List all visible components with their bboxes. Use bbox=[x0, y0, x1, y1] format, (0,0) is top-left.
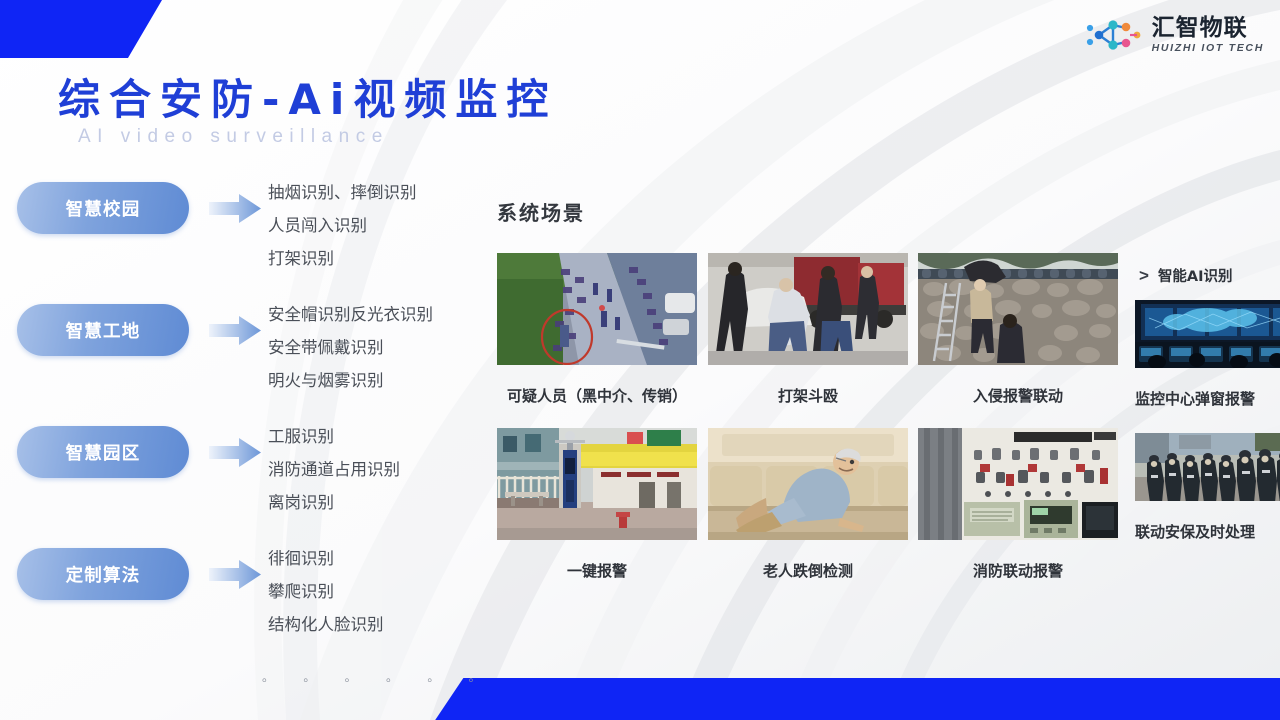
scene-image bbox=[497, 253, 697, 365]
scene-caption: 消防联动报警 bbox=[918, 560, 1118, 581]
scene-caption: 入侵报警联动 bbox=[918, 385, 1118, 406]
ellipsis-dots: 。 。 。 。 。 。 bbox=[262, 668, 494, 685]
arrow-right-icon bbox=[209, 315, 261, 346]
category-pill-smart-park[interactable]: 智慧园区 bbox=[17, 426, 189, 478]
category-pill-smart-campus[interactable]: 智慧校园 bbox=[17, 182, 189, 234]
category-item: 安全带佩戴识别 bbox=[268, 331, 433, 364]
scene-caption: 一键报警 bbox=[497, 560, 697, 581]
page-subtitle: AI video surveillance bbox=[78, 126, 389, 148]
category-pill-custom-algorithm[interactable]: 定制算法 bbox=[17, 548, 189, 600]
scene-thumb-suspicious-person[interactable]: 可疑人员（黑中介、传销） bbox=[497, 253, 697, 365]
scene-thumb-control-center-popup-alarm[interactable]: 监控中心弹窗报警 bbox=[1135, 300, 1280, 368]
category-row: 定制算法 徘徊识别 攀爬识别 结构化人脸识别 bbox=[0, 548, 470, 670]
category-item: 人员闯入识别 bbox=[268, 209, 417, 242]
scene-thumb-fire-linkage-alarm[interactable]: 消防联动报警 bbox=[918, 428, 1118, 540]
category-pill-label: 智慧工地 bbox=[66, 318, 141, 343]
scene-image bbox=[918, 428, 1118, 540]
logo-company-name-cn: 汇智物联 bbox=[1152, 16, 1264, 40]
category-item: 离岗识别 bbox=[268, 486, 400, 519]
category-item: 徘徊识别 bbox=[268, 542, 384, 575]
molecule-network-icon bbox=[1085, 14, 1143, 56]
category-item: 明火与烟雾识别 bbox=[268, 364, 433, 397]
scene-image bbox=[708, 428, 908, 540]
scene-caption: 可疑人员（黑中介、传销） bbox=[497, 385, 697, 406]
category-pill-label: 智慧校园 bbox=[66, 196, 141, 221]
category-pill-smart-construction-site[interactable]: 智慧工地 bbox=[17, 304, 189, 356]
scene-caption: 联动安保及时处理 bbox=[1135, 521, 1280, 542]
category-item: 结构化人脸识别 bbox=[268, 608, 384, 641]
ai-recognition-tag: > 智能AI识别 bbox=[1139, 265, 1233, 286]
section-title: 系统场景 bbox=[497, 197, 585, 226]
scene-caption: 打架斗殴 bbox=[708, 385, 908, 406]
scene-thumb-security-response[interactable]: 联动安保及时处理 bbox=[1135, 433, 1280, 501]
category-row: 智慧工地 安全帽识别反光衣识别 安全带佩戴识别 明火与烟雾识别 bbox=[0, 304, 470, 426]
scene-gallery: 系统场景 bbox=[480, 190, 1280, 610]
scene-image bbox=[497, 428, 697, 540]
page-title: 综合安防-Ai视频监控 bbox=[58, 66, 557, 127]
scene-caption: 监控中心弹窗报警 bbox=[1135, 388, 1280, 409]
category-list: 智慧校园 抽烟识别、摔倒识别 人员闯入识别 打架识别 智慧工地 安全帽识别反光衣… bbox=[0, 182, 470, 670]
category-items: 工服识别 消防通道占用识别 离岗识别 bbox=[268, 420, 400, 519]
arrow-right-icon bbox=[209, 559, 261, 590]
ai-recognition-label: 智能AI识别 bbox=[1158, 265, 1233, 286]
scene-caption: 老人跌倒检测 bbox=[708, 560, 908, 581]
category-item: 工服识别 bbox=[268, 420, 400, 453]
scene-thumb-one-touch-alarm[interactable]: 一键报警 bbox=[497, 428, 697, 540]
scene-image bbox=[708, 253, 908, 365]
category-pill-label: 智慧园区 bbox=[66, 440, 141, 465]
category-row: 智慧校园 抽烟识别、摔倒识别 人员闯入识别 打架识别 bbox=[0, 182, 470, 304]
scene-thumb-brawl[interactable]: 打架斗殴 bbox=[708, 253, 908, 365]
arrow-right-icon bbox=[209, 193, 261, 224]
scene-image bbox=[1135, 300, 1280, 368]
scene-image bbox=[918, 253, 1118, 365]
category-row: 智慧园区 工服识别 消防通道占用识别 离岗识别 bbox=[0, 426, 470, 548]
category-item: 打架识别 bbox=[268, 242, 417, 275]
scene-thumb-intrusion-alarm[interactable]: 入侵报警联动 bbox=[918, 253, 1118, 365]
company-logo: 汇智物联 HUIZHI IOT TECH bbox=[1085, 14, 1264, 56]
category-pill-label: 定制算法 bbox=[66, 562, 141, 587]
chevron-right-icon: > bbox=[1139, 267, 1149, 284]
scene-thumb-elderly-fall-detection[interactable]: 老人跌倒检测 bbox=[708, 428, 908, 540]
category-items: 抽烟识别、摔倒识别 人员闯入识别 打架识别 bbox=[268, 176, 417, 275]
category-item: 攀爬识别 bbox=[268, 575, 384, 608]
scene-image bbox=[1135, 433, 1280, 501]
arrow-right-icon bbox=[209, 437, 261, 468]
category-item: 安全帽识别反光衣识别 bbox=[268, 298, 433, 331]
category-items: 徘徊识别 攀爬识别 结构化人脸识别 bbox=[268, 542, 384, 641]
category-item: 消防通道占用识别 bbox=[268, 453, 400, 486]
category-item: 抽烟识别、摔倒识别 bbox=[268, 176, 417, 209]
category-items: 安全帽识别反光衣识别 安全带佩戴识别 明火与烟雾识别 bbox=[268, 298, 433, 397]
logo-company-name-en: HUIZHI IOT TECH bbox=[1152, 42, 1264, 54]
